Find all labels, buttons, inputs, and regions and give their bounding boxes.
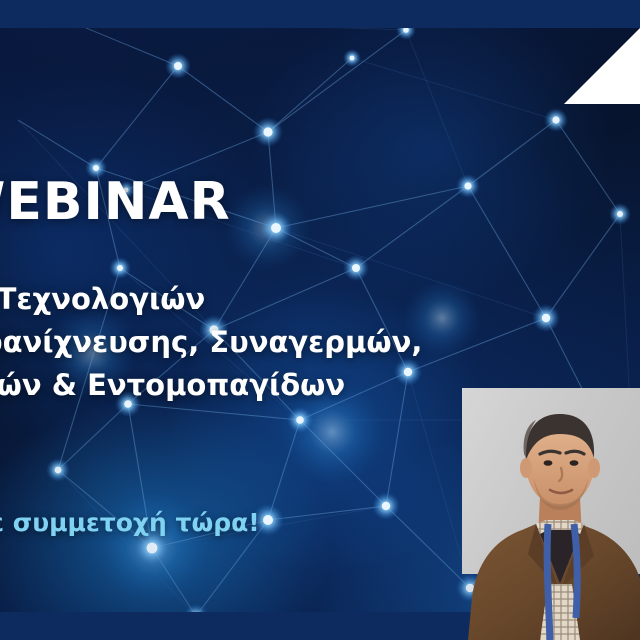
subheadline-line-3: Καμερών & Εντομοπαγίδων <box>0 364 422 407</box>
speaker-photo <box>462 388 640 640</box>
subheadline-line-2: Πυρανίχνευσης, Συναγερμών, <box>0 321 422 364</box>
top-navy-band <box>0 0 640 28</box>
subheadline-line-1: Εξέλιξη Τεχνολογιών <box>0 278 422 321</box>
page-title: WEBINAR <box>0 176 231 228</box>
speaker-portrait-illustration <box>462 388 640 640</box>
white-corner-wedge <box>564 28 640 104</box>
subheadline: Εξέλιξη Τεχνολογιών Πυρανίχνευσης, Συναγ… <box>0 278 422 407</box>
webinar-promo-slide: WEBINAR Εξέλιξη Τεχνολογιών Πυρανίχνευση… <box>0 0 640 640</box>
call-to-action-text: Δηλώστε συμμετοχή τώρα! <box>0 508 260 537</box>
